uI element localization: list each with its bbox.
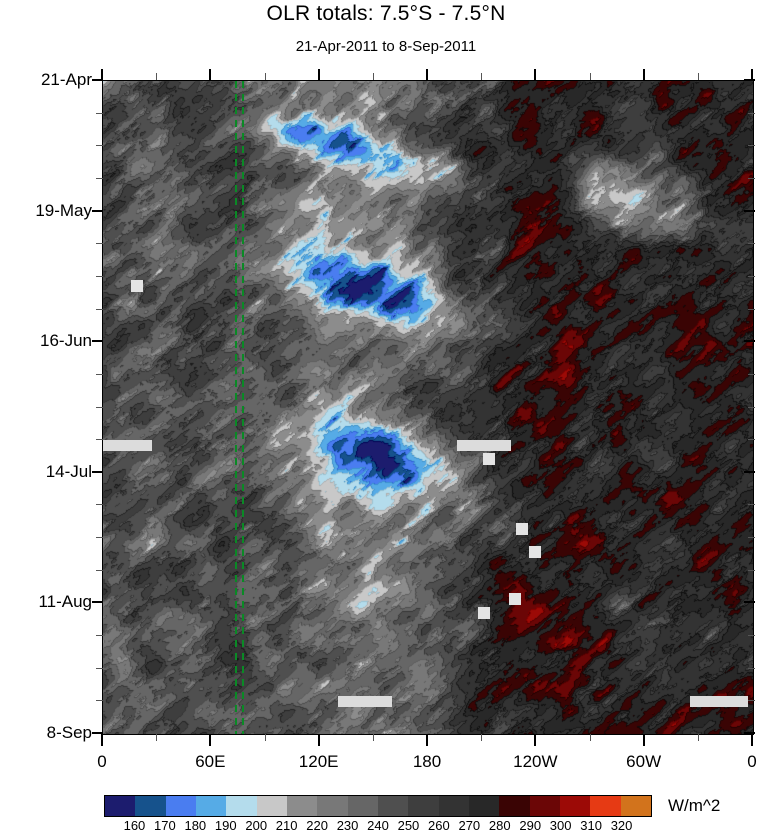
x-axis-tick-major xyxy=(101,734,103,746)
colorbar-tick-label: 210 xyxy=(276,818,298,833)
colorbar-cell[interactable] xyxy=(469,796,499,816)
x-axis-tick-minor xyxy=(373,73,374,80)
colorbar-tick-label: 270 xyxy=(458,818,480,833)
y-axis-tick-label: 11-Aug xyxy=(38,592,92,612)
colorbar-cell[interactable] xyxy=(499,796,529,816)
x-axis-tick-major xyxy=(209,69,211,80)
y-axis-tick-minor xyxy=(96,145,103,146)
colorbar-cell[interactable] xyxy=(560,796,590,816)
y-axis-tick-major xyxy=(744,79,755,81)
y-axis-tick-minor xyxy=(748,113,755,114)
colorbar-tick-label: 180 xyxy=(184,818,206,833)
x-axis-tick-major xyxy=(643,734,645,746)
y-axis-tick-minor xyxy=(748,374,755,375)
x-axis-tick-minor xyxy=(156,73,157,80)
colorbar-tick-label: 250 xyxy=(398,818,420,833)
colorbar-tick-label: 220 xyxy=(306,818,328,833)
x-axis-tick-major xyxy=(318,734,320,746)
x-axis-tick-major xyxy=(101,69,103,80)
y-axis-tick-minor xyxy=(96,309,103,310)
green-dashed-line-west xyxy=(235,81,237,734)
x-axis-tick-minor xyxy=(265,734,266,741)
y-axis-tick-minor xyxy=(748,537,755,538)
colorbar-cell[interactable] xyxy=(408,796,438,816)
page-subtitle: 21-Apr-2011 to 8-Sep-2011 xyxy=(0,38,772,55)
colorbar-cell[interactable] xyxy=(317,796,347,816)
y-axis-tick-minor xyxy=(96,668,103,669)
x-axis-tick-major xyxy=(426,734,428,746)
y-axis-tick-minor xyxy=(96,276,103,277)
y-axis-tick-major xyxy=(92,210,103,212)
track-marker xyxy=(516,523,528,535)
y-axis-tick-major xyxy=(92,340,103,342)
y-axis-tick-minor xyxy=(96,374,103,375)
y-axis-tick-major xyxy=(744,601,755,603)
colorbar[interactable] xyxy=(104,795,652,817)
y-axis-tick-minor xyxy=(748,570,755,571)
y-axis-tick-minor xyxy=(748,504,755,505)
colorbar-tick-label: 200 xyxy=(245,818,267,833)
track-marker xyxy=(478,607,490,619)
y-axis-tick-major xyxy=(92,601,103,603)
y-axis-tick-minor xyxy=(748,407,755,408)
x-axis-tick-label: 60W xyxy=(626,752,661,772)
y-axis-tick-minor xyxy=(96,537,103,538)
x-axis-tick-label: 120E xyxy=(299,752,339,772)
x-axis-tick-minor xyxy=(156,734,157,741)
colorbar-cell[interactable] xyxy=(439,796,469,816)
y-axis-tick-minor xyxy=(748,178,755,179)
x-axis-tick-major xyxy=(534,734,536,746)
page-title: OLR totals: 7.5°S - 7.5°N xyxy=(0,2,772,26)
y-axis-tick-minor xyxy=(748,145,755,146)
x-axis-tick-label: 120W xyxy=(513,752,557,772)
x-axis-tick-major xyxy=(318,69,320,80)
colorbar-cell[interactable] xyxy=(135,796,165,816)
colorbar-cell[interactable] xyxy=(590,796,620,816)
x-axis-tick-major xyxy=(751,69,753,80)
y-axis-tick-minor xyxy=(96,113,103,114)
x-axis-tick-label: 60E xyxy=(195,752,225,772)
colorbar-cell[interactable] xyxy=(257,796,287,816)
x-axis-tick-minor xyxy=(590,73,591,80)
y-axis-tick-minor xyxy=(96,635,103,636)
y-axis-tick-minor xyxy=(96,439,103,440)
colorbar-cell[interactable] xyxy=(378,796,408,816)
hovmoller-plot-area[interactable] xyxy=(102,80,754,735)
colorbar-tick-label: 300 xyxy=(550,818,572,833)
y-axis-tick-minor xyxy=(748,700,755,701)
colorbar-tick-label: 320 xyxy=(611,818,633,833)
colorbar-tick-label: 230 xyxy=(337,818,359,833)
y-axis-tick-major xyxy=(744,471,755,473)
y-axis-tick-minor xyxy=(96,700,103,701)
y-axis-tick-label: 21-Apr xyxy=(41,70,92,90)
y-axis-tick-minor xyxy=(96,243,103,244)
colorbar-tick-label: 170 xyxy=(154,818,176,833)
x-axis-tick-major xyxy=(751,734,753,746)
y-axis-tick-minor xyxy=(748,635,755,636)
olr-field-canvas xyxy=(103,81,753,734)
y-axis-tick-major xyxy=(744,340,755,342)
colorbar-cell[interactable] xyxy=(287,796,317,816)
x-axis-tick-label: 0 xyxy=(97,752,106,772)
missing-data-bar xyxy=(690,696,748,707)
track-marker xyxy=(509,593,521,605)
y-axis-tick-major xyxy=(92,471,103,473)
y-axis-tick-minor xyxy=(748,668,755,669)
x-axis-tick-minor xyxy=(698,734,699,741)
colorbar-tick-label: 190 xyxy=(215,818,237,833)
y-axis-tick-minor xyxy=(96,570,103,571)
y-axis-tick-label: 14-Jul xyxy=(46,462,92,482)
x-axis-tick-minor xyxy=(481,734,482,741)
y-axis-tick-minor xyxy=(96,504,103,505)
missing-data-bar xyxy=(457,440,511,451)
colorbar-cell[interactable] xyxy=(226,796,256,816)
x-axis-tick-minor xyxy=(373,734,374,741)
y-axis-labels: 21-Apr19-May16-Jun14-Jul11-Aug8-Sep xyxy=(0,0,92,834)
colorbar-cell[interactable] xyxy=(105,796,135,816)
y-axis-tick-major xyxy=(744,732,755,734)
y-axis-tick-label: 16-Jun xyxy=(40,331,92,351)
y-axis-tick-minor xyxy=(748,243,755,244)
track-marker xyxy=(529,546,541,558)
colorbar-tick-label: 280 xyxy=(489,818,511,833)
y-axis-tick-minor xyxy=(748,276,755,277)
colorbar-tick-labels: 1601701801902002102202302402502602702802… xyxy=(0,818,772,834)
colorbar-cell[interactable] xyxy=(348,796,378,816)
x-axis-tick-major xyxy=(209,734,211,746)
colorbar-tick-label: 310 xyxy=(580,818,602,833)
green-dashed-line-east xyxy=(242,81,244,734)
x-axis-tick-major xyxy=(534,69,536,80)
x-axis-tick-label: 180 xyxy=(413,752,441,772)
y-axis-tick-minor xyxy=(96,178,103,179)
colorbar-tick-label: 290 xyxy=(519,818,541,833)
colorbar-cell[interactable] xyxy=(166,796,196,816)
y-axis-tick-minor xyxy=(748,439,755,440)
y-axis-tick-label: 19-May xyxy=(35,201,92,221)
colorbar-cell[interactable] xyxy=(621,796,651,816)
missing-data-bar xyxy=(338,696,392,707)
y-axis-tick-minor xyxy=(96,407,103,408)
colorbar-cell[interactable] xyxy=(196,796,226,816)
y-axis-tick-label: 8-Sep xyxy=(47,723,92,743)
x-axis-tick-minor xyxy=(698,73,699,80)
x-axis-tick-major xyxy=(426,69,428,80)
x-axis-tick-major xyxy=(643,69,645,80)
colorbar-tick-label: 240 xyxy=(367,818,389,833)
x-axis-tick-minor xyxy=(481,73,482,80)
track-marker xyxy=(131,280,143,292)
x-axis-tick-minor xyxy=(590,734,591,741)
x-axis-tick-minor xyxy=(265,73,266,80)
x-axis-tick-label: 0 xyxy=(747,752,756,772)
colorbar-units-label: W/m^2 xyxy=(668,796,720,816)
y-axis-tick-minor xyxy=(748,309,755,310)
missing-data-bar xyxy=(103,440,152,451)
colorbar-tick-label: 160 xyxy=(124,818,146,833)
y-axis-tick-major xyxy=(744,210,755,212)
colorbar-tick-label: 260 xyxy=(428,818,450,833)
track-marker xyxy=(483,453,495,465)
colorbar-cell[interactable] xyxy=(530,796,560,816)
